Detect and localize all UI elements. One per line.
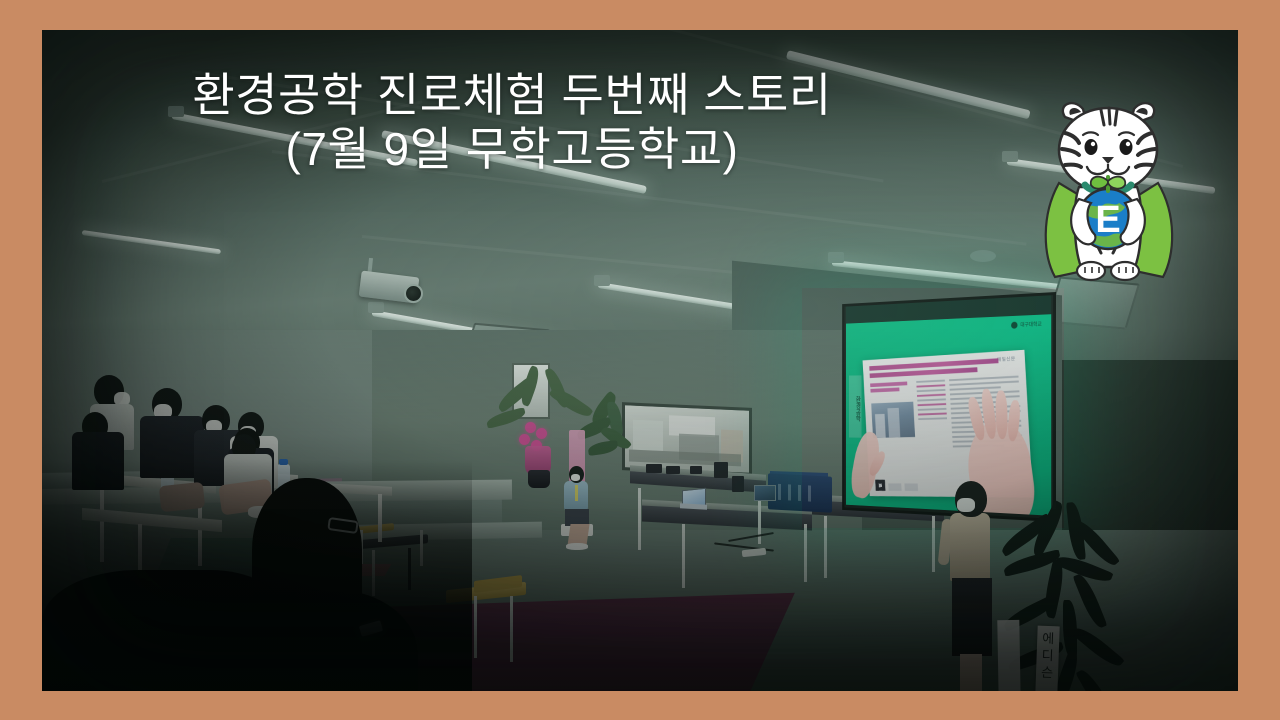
tiger-mascot-icon: E xyxy=(1021,95,1196,290)
table-leg xyxy=(474,596,477,658)
qr-code-icon xyxy=(875,480,885,491)
text-line xyxy=(950,386,1001,390)
text-line xyxy=(918,413,947,416)
orchid-flower xyxy=(519,434,530,445)
light-mount xyxy=(1002,151,1018,162)
bench-leg xyxy=(932,516,935,572)
foreground-shadow xyxy=(42,460,472,691)
lab-window xyxy=(622,402,752,476)
text-line xyxy=(917,389,946,392)
footer-block xyxy=(904,483,918,490)
blue-cabinet xyxy=(768,473,832,512)
svg-text:E: E xyxy=(1095,199,1120,241)
presentation-slide: 대구대학교 환경공학 매일신문 xyxy=(0,0,1280,720)
ceiling-seam xyxy=(102,100,423,183)
face-mask xyxy=(571,474,580,481)
text-line xyxy=(917,398,946,401)
ceiling-diffuser xyxy=(970,250,996,262)
plant-leaf xyxy=(1071,623,1124,671)
seated-person-shoes xyxy=(566,543,588,550)
text-line xyxy=(916,380,945,383)
projector-lens-icon xyxy=(404,284,423,303)
white-ribbon xyxy=(997,620,1020,691)
ceiling-seam xyxy=(272,150,1027,246)
cabinet-slot xyxy=(788,484,791,500)
light-mount xyxy=(168,106,184,117)
orchid-flower xyxy=(536,428,547,439)
bench-leg xyxy=(682,524,685,588)
lab-equipment-box xyxy=(690,466,702,474)
light-mount xyxy=(594,275,610,286)
slide-side-tab: 환경공학 xyxy=(849,375,861,437)
lab-equipment-box xyxy=(646,464,662,473)
cabinet-slot xyxy=(778,484,781,500)
university-logo: 대구대학교 xyxy=(1011,321,1042,329)
plant-leaf xyxy=(1075,666,1116,691)
slide-background: 대구대학교 환경공학 매일신문 xyxy=(846,314,1051,516)
face-mask xyxy=(957,498,975,512)
article-photo xyxy=(871,402,915,438)
presenter-legs xyxy=(960,654,982,691)
presenter-skirt xyxy=(952,578,992,656)
lab-equipment-box xyxy=(666,466,680,474)
presenter-top xyxy=(950,513,990,581)
plant-pot xyxy=(528,470,550,488)
cabinet-slot xyxy=(808,485,811,501)
bench-leg xyxy=(804,524,807,582)
lab-equipment-box xyxy=(714,462,728,478)
korean-ribbon-text: 에디슨 xyxy=(1034,626,1059,691)
article-footer xyxy=(875,480,918,491)
text-line xyxy=(917,403,946,406)
lab-equipment-box xyxy=(732,476,744,492)
text-line xyxy=(917,394,946,397)
newspaper-brand: 매일신문 xyxy=(997,355,1016,363)
orchid-flower xyxy=(525,422,536,433)
text-line xyxy=(918,417,947,420)
bench-leg xyxy=(638,488,641,550)
light-mount xyxy=(828,252,844,263)
bench-leg xyxy=(824,516,827,578)
light-mount xyxy=(368,302,384,313)
subheading-bar xyxy=(870,387,899,392)
subheading-bar xyxy=(870,382,907,388)
table-leg xyxy=(510,596,513,662)
text-line xyxy=(949,381,1018,386)
lanyard xyxy=(575,485,578,501)
text-line xyxy=(916,384,945,387)
footer-block xyxy=(888,483,901,490)
cabinet-slot xyxy=(798,485,801,501)
article-middle-column xyxy=(916,380,949,451)
equipment-monitor xyxy=(754,485,776,501)
logo-mark-icon xyxy=(1011,322,1017,329)
logo-text: 대구대학교 xyxy=(1020,321,1041,329)
text-line xyxy=(918,408,947,411)
lab-equipment xyxy=(633,420,663,451)
projection-screen: 대구대학교 환경공학 매일신문 xyxy=(842,292,1056,522)
